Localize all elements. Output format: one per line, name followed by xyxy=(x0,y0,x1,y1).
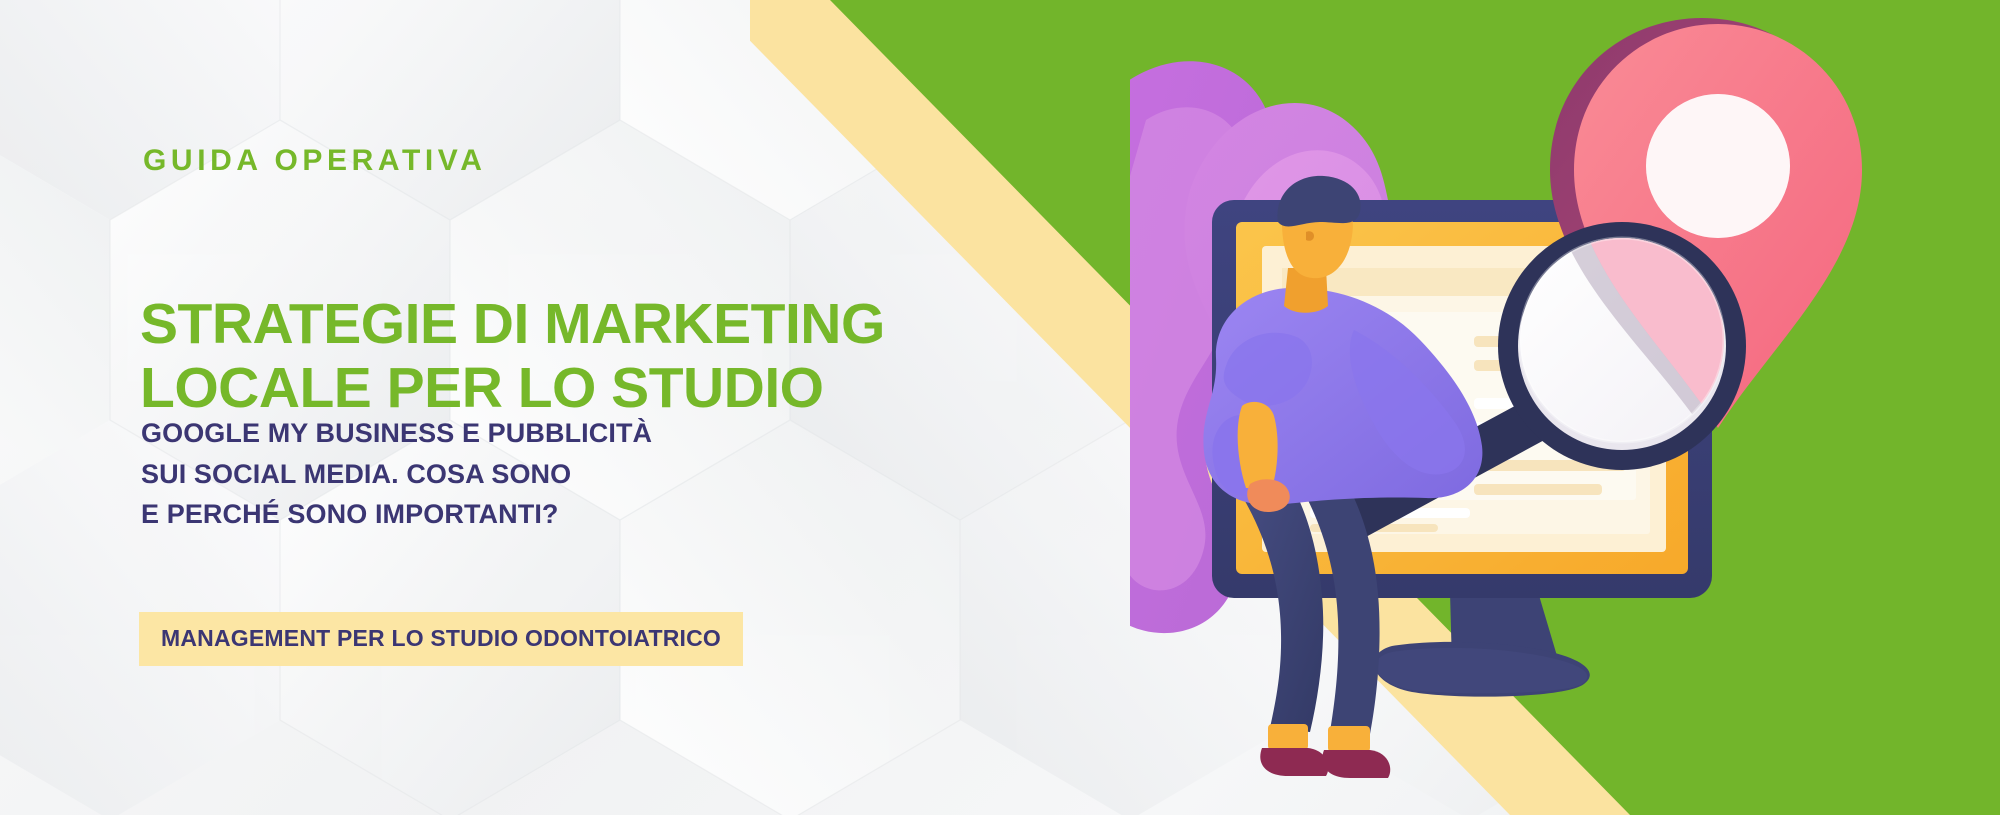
subtitle-line-2: SUI SOCIAL MEDIA. COSA SONO xyxy=(141,454,652,495)
text-content: GUIDA OPERATIVA STRATEGIE DI MARKETING L… xyxy=(0,0,900,815)
person-ankle xyxy=(1328,726,1370,752)
person-shoe xyxy=(1260,748,1328,776)
eyebrow-label: GUIDA OPERATIVA xyxy=(143,146,486,176)
subtitle: GOOGLE MY BUSINESS E PUBBLICITÀ SUI SOCI… xyxy=(141,413,652,535)
content-line xyxy=(1474,484,1602,495)
page-title: STRATEGIE DI MARKETING LOCALE PER LO STU… xyxy=(140,293,885,421)
subtitle-line-1: GOOGLE MY BUSINESS E PUBBLICITÀ xyxy=(141,413,652,454)
person-shoe xyxy=(1322,750,1390,778)
page-title-line-2: LOCALE PER LO STUDIO xyxy=(140,357,885,421)
page-title-line-1: STRATEGIE DI MARKETING xyxy=(140,292,885,356)
category-badge: MANAGEMENT PER LO STUDIO ODONTOIATRICO xyxy=(139,612,743,666)
hero-illustration xyxy=(1130,0,2000,815)
person-ankle xyxy=(1268,724,1308,750)
subtitle-line-3: E PERCHÉ SONO IMPORTANTI? xyxy=(141,494,652,535)
person-forearm xyxy=(1238,402,1278,488)
marketing-banner: GUIDA OPERATIVA STRATEGIE DI MARKETING L… xyxy=(0,0,2000,815)
